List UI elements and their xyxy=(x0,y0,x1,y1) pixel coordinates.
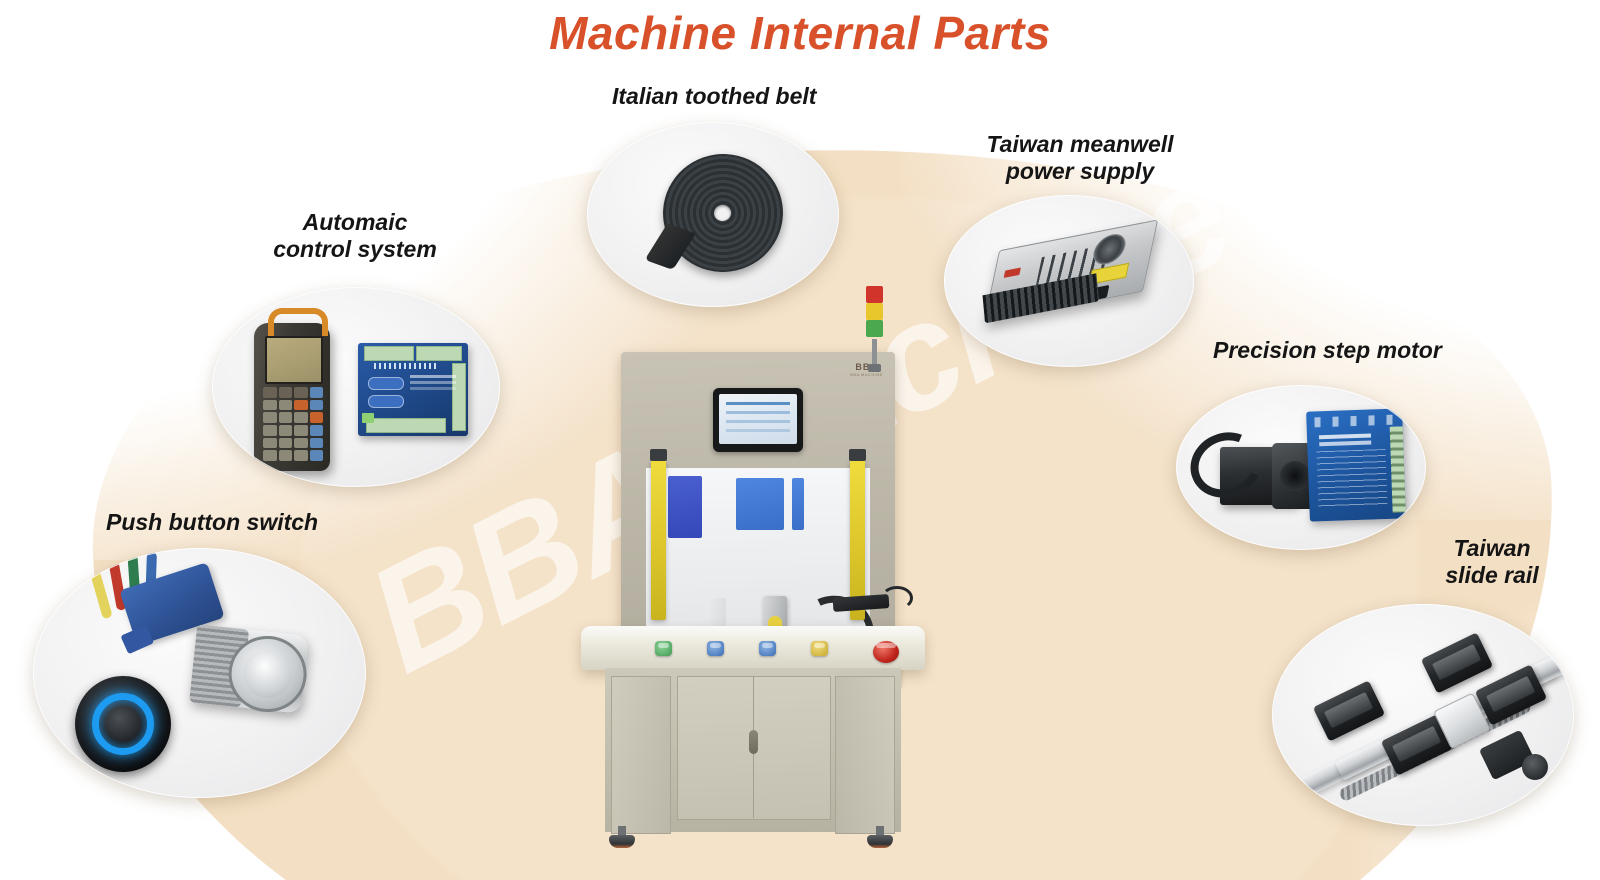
ball-screw-icon xyxy=(1338,699,1532,803)
switching-power-supply-icon xyxy=(984,219,1158,322)
wire-red xyxy=(107,554,127,611)
linear-guide-rail-back xyxy=(1335,631,1574,780)
psu-yellow-label xyxy=(1089,263,1129,285)
psu-vent-slots xyxy=(1034,244,1113,296)
label-automaic-control-system: Automaic control system xyxy=(265,209,445,262)
callout-italian-toothed-belt xyxy=(587,122,839,307)
control-panel-buttons xyxy=(655,641,895,661)
coupling-end-cap xyxy=(1522,754,1548,780)
machine-cabinet xyxy=(605,668,901,832)
label-precision-step-motor: Precision step motor xyxy=(1213,337,1442,364)
linear-guide-rail-front xyxy=(1279,657,1557,806)
cabinet-side-left xyxy=(611,676,671,834)
blue-connector-housing xyxy=(119,562,224,646)
hmi-touchscreen[interactable] xyxy=(713,388,803,452)
page-title: Machine Internal Parts xyxy=(0,6,1600,60)
pcb-silkscreen-text xyxy=(410,375,456,378)
motor-cable xyxy=(1181,422,1272,508)
callout-taiwan-meanwell-power-supply xyxy=(944,195,1194,367)
driver-top-controls xyxy=(1314,415,1394,428)
leveling-foot-left xyxy=(609,826,635,848)
control-board-icon xyxy=(358,343,468,436)
driver-dip-table xyxy=(1317,449,1388,507)
pendant-lcd-screen xyxy=(265,336,323,384)
tower-base xyxy=(868,364,881,372)
signal-tower-light xyxy=(866,286,883,356)
wire-blue xyxy=(145,552,157,608)
driver-model-text xyxy=(1319,433,1371,439)
light-curtain-cap-left xyxy=(650,449,667,461)
brand-subtext: BBA MACHINE xyxy=(850,372,883,377)
pendant-keypad xyxy=(263,387,323,461)
pcb-terminal-bottom xyxy=(366,418,446,433)
label-taiwan-meanwell-power-supply: Taiwan meanwell power supply xyxy=(975,131,1185,184)
toothed-belt-coil-icon xyxy=(655,146,790,280)
ball-screw-nut-housing xyxy=(1433,692,1491,749)
tower-lamp-green xyxy=(866,320,883,337)
pendant-handle xyxy=(268,308,328,336)
driver-terminal-block xyxy=(1390,426,1406,512)
machine-bench-top xyxy=(581,626,925,670)
label-italian-toothed-belt: Italian toothed belt xyxy=(612,83,816,110)
handheld-pendant-icon xyxy=(254,323,330,471)
wire-green xyxy=(127,550,141,607)
belt-loose-end xyxy=(645,223,696,270)
belt-center-hole xyxy=(713,204,732,222)
label-taiwan-slide-rail: Taiwan slide rail xyxy=(1432,535,1552,588)
interior-blue-panel-far-right xyxy=(792,478,804,530)
machine-frame: BBA BBA MACHINE xyxy=(621,352,895,631)
pcb-dsub-port-1 xyxy=(368,377,404,390)
pcb-terminal-top-left xyxy=(364,346,414,361)
motor-coupling-block xyxy=(1479,730,1535,781)
remote-cord xyxy=(881,586,913,610)
function-button-1[interactable] xyxy=(707,641,724,656)
rail-carriage-block-3 xyxy=(1421,632,1493,693)
callout-automaic-control-system xyxy=(212,287,500,487)
illuminated-button-blue-ring-icon xyxy=(75,676,171,772)
switch-button-face xyxy=(225,632,311,716)
metal-push-button-switch-icon xyxy=(189,624,309,713)
leveling-foot-right xyxy=(867,826,893,848)
pcb-terminal-top-right xyxy=(416,346,462,361)
rail-carriage-block-2 xyxy=(1381,714,1453,775)
hmi-screen-surface xyxy=(719,394,797,444)
label-push-button-switch: Push button switch xyxy=(106,509,318,536)
cabinet-door-handle[interactable] xyxy=(749,730,758,754)
psu-fan-icon xyxy=(1091,231,1129,267)
tower-lamp-yellow xyxy=(866,303,883,320)
interior-blue-panel-right xyxy=(736,478,784,530)
light-curtain-left xyxy=(651,460,666,620)
rail-carriage-block-1 xyxy=(1313,680,1385,741)
motor-front-flange xyxy=(1272,443,1318,509)
pcb-dsub-port-2 xyxy=(368,395,404,408)
interior-blue-panel-left xyxy=(668,476,702,538)
function-button-2[interactable] xyxy=(759,641,776,656)
connector-latch-tab xyxy=(120,625,154,655)
pcb-pin-row xyxy=(374,363,438,369)
pcb-green-connector xyxy=(362,413,374,423)
stepper-motor-icon xyxy=(1220,447,1298,505)
pcb-terminal-right xyxy=(452,363,466,431)
psu-brand-logo xyxy=(1004,267,1021,277)
light-curtain-cap-right xyxy=(849,449,866,461)
rail-carriage-block-4 xyxy=(1475,664,1547,725)
emergency-stop-button[interactable] xyxy=(873,641,899,663)
callout-push-button-switch xyxy=(33,548,366,798)
psu-heatsink-fins xyxy=(982,273,1098,323)
callout-taiwan-slide-rail xyxy=(1272,604,1574,826)
cabinet-side-right xyxy=(835,676,895,834)
tower-lamp-red xyxy=(866,286,883,303)
callout-precision-step-motor xyxy=(1176,385,1426,550)
tower-stem xyxy=(872,339,877,367)
switch-threaded-barrel xyxy=(189,624,249,707)
machine-photo: BBA BBA MACHINE xyxy=(575,286,930,874)
start-button[interactable] xyxy=(655,641,672,656)
wire-yellow xyxy=(88,563,113,620)
infographic-canvas: Machine Internal Parts BBA Machine BBA B… xyxy=(0,0,1600,880)
hybrid-servo-driver-icon xyxy=(1306,408,1406,521)
motor-shaft xyxy=(1310,475,1334,482)
reset-button[interactable] xyxy=(811,641,828,656)
psu-power-port xyxy=(1093,285,1109,300)
